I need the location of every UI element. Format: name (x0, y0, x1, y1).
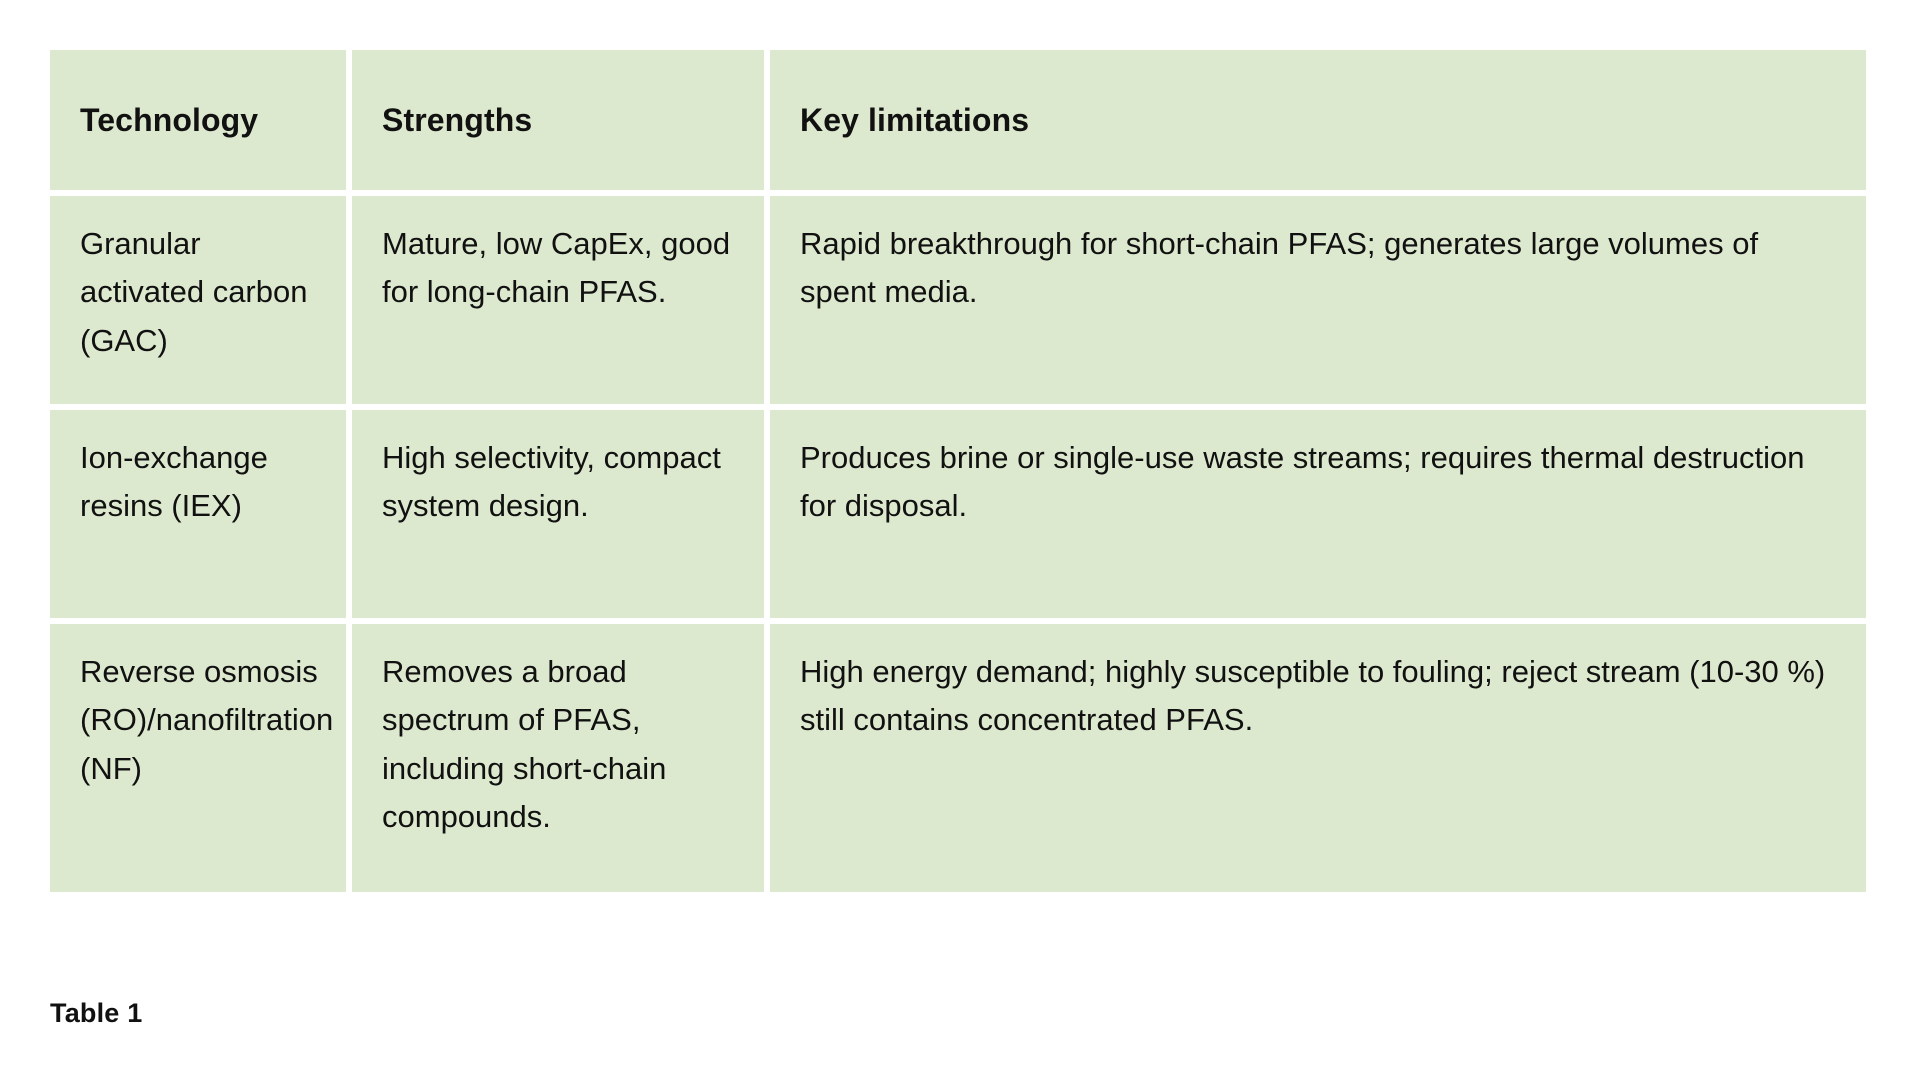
cell-text-technology: Ion-exchange resins (IEX) (80, 440, 268, 523)
table-container: Technology Strengths Key limitations (50, 50, 1866, 892)
cell-inner-key-limitations: High energy demand; highly susceptible t… (770, 624, 1866, 755)
cell-technology: Ion-exchange resins (IEX) (50, 410, 352, 624)
column-header-strengths-label: Strengths (382, 101, 532, 139)
cell-strengths: Mature, low CapEx, good for long-chain P… (352, 196, 770, 410)
pfas-treatment-technology-table: Technology Strengths Key limitations (50, 50, 1866, 892)
cell-text-key-limitations: High energy demand; highly susceptible t… (800, 654, 1825, 737)
cell-text-key-limitations: Rapid breakthrough for short-chain PFAS;… (800, 226, 1758, 309)
column-header-technology: Technology (50, 50, 352, 196)
cell-strengths: Removes a broad spectrum of PFAS, includ… (352, 624, 770, 892)
cell-text-strengths: Mature, low CapEx, good for long-chain P… (382, 226, 730, 309)
cell-key-limitations: Produces brine or single-use waste strea… (770, 410, 1866, 624)
cell-text-technology: Granular activated carbon (GAC) (80, 226, 307, 358)
table-row: Reverse osmosis (RO)/nanofiltration (NF)… (50, 624, 1866, 892)
table-row: Ion-exchange resins (IEX) High selectivi… (50, 410, 1866, 624)
header-cell-inner-technology: Technology (50, 50, 346, 190)
column-header-key-limitations-label: Key limitations (800, 101, 1029, 139)
cell-text-strengths: High selectivity, compact system design. (382, 440, 721, 523)
cell-text-technology: Reverse osmosis (RO)/nanofiltration (NF) (80, 654, 333, 786)
table-caption: Table 1 (50, 998, 142, 1029)
cell-text-strengths: Removes a broad spectrum of PFAS, includ… (382, 654, 666, 834)
cell-key-limitations: High energy demand; highly susceptible t… (770, 624, 1866, 892)
cell-inner-technology: Granular activated carbon (GAC) (50, 196, 346, 375)
cell-inner-key-limitations: Rapid breakthrough for short-chain PFAS;… (770, 196, 1866, 327)
cell-technology: Reverse osmosis (RO)/nanofiltration (NF) (50, 624, 352, 892)
cell-key-limitations: Rapid breakthrough for short-chain PFAS;… (770, 196, 1866, 410)
header-cell-inner-strengths: Strengths (352, 50, 764, 190)
table-body: Granular activated carbon (GAC) Mature, … (50, 196, 1866, 892)
table-page: Technology Strengths Key limitations (0, 0, 1920, 1080)
column-header-technology-label: Technology (80, 101, 258, 139)
table-row: Granular activated carbon (GAC) Mature, … (50, 196, 1866, 410)
cell-inner-technology: Reverse osmosis (RO)/nanofiltration (NF) (50, 624, 346, 803)
column-header-key-limitations: Key limitations (770, 50, 1866, 196)
cell-text-key-limitations: Produces brine or single-use waste strea… (800, 440, 1805, 523)
column-header-strengths: Strengths (352, 50, 770, 196)
cell-inner-key-limitations: Produces brine or single-use waste strea… (770, 410, 1866, 541)
cell-strengths: High selectivity, compact system design. (352, 410, 770, 624)
cell-technology: Granular activated carbon (GAC) (50, 196, 352, 410)
header-cell-inner-key-limitations: Key limitations (770, 50, 1866, 190)
table-header-row: Technology Strengths Key limitations (50, 50, 1866, 196)
cell-inner-technology: Ion-exchange resins (IEX) (50, 410, 346, 541)
cell-inner-strengths: High selectivity, compact system design. (352, 410, 764, 541)
cell-inner-strengths: Removes a broad spectrum of PFAS, includ… (352, 624, 764, 851)
table-header: Technology Strengths Key limitations (50, 50, 1866, 196)
cell-inner-strengths: Mature, low CapEx, good for long-chain P… (352, 196, 764, 327)
